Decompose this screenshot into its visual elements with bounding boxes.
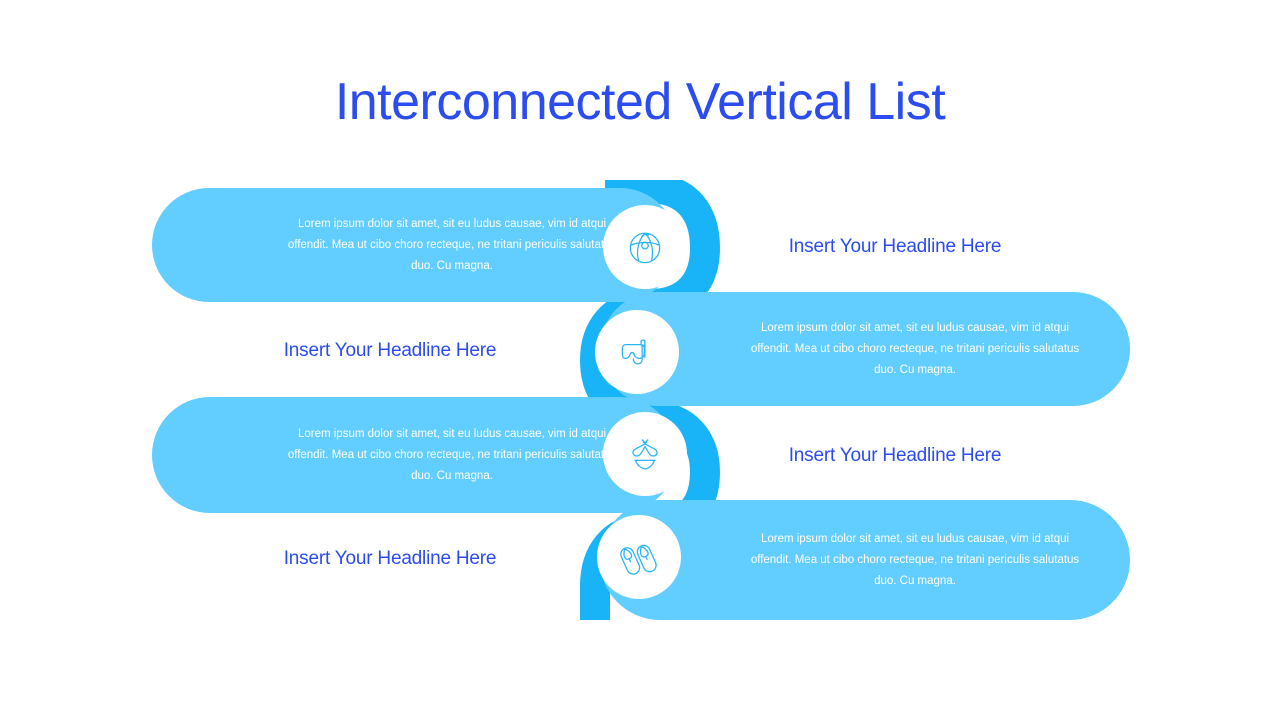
flip-flops-icon bbox=[617, 535, 661, 579]
row-icon-bubble-4[interactable] bbox=[597, 515, 681, 599]
panel-body-text: Lorem ipsum dolor sit amet, sit eu ludus… bbox=[287, 214, 617, 277]
panel-body-text: Lorem ipsum dolor sit amet, sit eu ludus… bbox=[287, 424, 617, 487]
row-headline: Insert Your Headline Here bbox=[720, 236, 1070, 258]
bikini-swimsuit-icon bbox=[623, 432, 667, 476]
beach-ball-icon bbox=[623, 225, 667, 269]
content-panel[interactable]: Lorem ipsum dolor sit amet, sit eu ludus… bbox=[600, 292, 1130, 406]
row-headline: Insert Your Headline Here bbox=[215, 340, 565, 362]
slide-canvas: Interconnected Vertical List Lorem ipsum… bbox=[0, 0, 1280, 720]
row-icon-bubble-3[interactable] bbox=[603, 412, 687, 496]
row-icon-bubble-2[interactable] bbox=[595, 310, 679, 394]
content-panel[interactable]: Lorem ipsum dolor sit amet, sit eu ludus… bbox=[152, 188, 677, 302]
row-headline: Insert Your Headline Here bbox=[720, 445, 1070, 467]
row-icon-bubble-1[interactable] bbox=[603, 205, 687, 289]
content-panel[interactable]: Lorem ipsum dolor sit amet, sit eu ludus… bbox=[152, 397, 677, 513]
page-title: Interconnected Vertical List bbox=[0, 72, 1280, 132]
panel-body-text: Lorem ipsum dolor sit amet, sit eu ludus… bbox=[750, 529, 1080, 592]
panel-body-text: Lorem ipsum dolor sit amet, sit eu ludus… bbox=[750, 318, 1080, 381]
row-headline: Insert Your Headline Here bbox=[215, 548, 565, 570]
snorkel-mask-icon bbox=[615, 330, 659, 374]
